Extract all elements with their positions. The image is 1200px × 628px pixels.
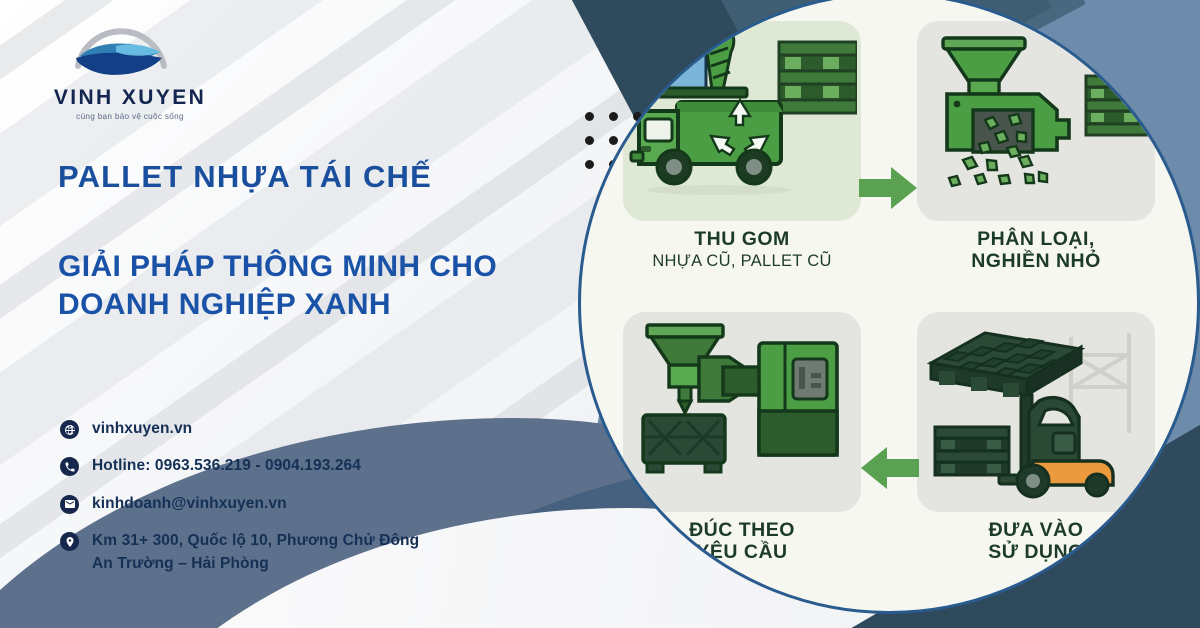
contact-address-text: Km 31+ 300, Quốc lộ 10, Phương Chử Đông …	[92, 530, 419, 575]
brand-tagline: cùng bạn bảo vệ cuộc sống	[52, 112, 208, 121]
process-step-3: ĐÚC THEO YÊU CẦU	[595, 312, 889, 603]
left-content-column: VINH XUYEN cùng bạn bảo vệ cuộc sống PAL…	[0, 0, 620, 628]
globe-icon	[60, 420, 79, 439]
brand-logo: VINH XUYEN cùng bạn bảo vệ cuộc sống	[48, 18, 208, 118]
grinder-machine-icon	[921, 24, 1151, 219]
page-subtitle-line1: GIẢI PHÁP THÔNG MINH CHO	[58, 250, 497, 283]
step-4-card	[917, 312, 1155, 512]
envelope-icon	[60, 495, 79, 514]
process-grid: THU GOM NHỰA CŨ, PALLET CŨ	[581, 0, 1197, 611]
step-3-label-line1: ĐÚC THEO	[689, 519, 795, 541]
contact-hotline-text: Hotline: 0963.536.219 - 0904.193.264	[92, 455, 361, 477]
brand-name: VINH XUYEN	[52, 86, 208, 110]
step-4-label: ĐƯA VÀO SỬ DỤNG	[988, 520, 1084, 564]
process-step-2: PHÂN LOẠI, NGHIỀN NHỎ	[889, 21, 1183, 312]
step-3-label-line2: YÊU CẦU	[696, 541, 787, 563]
contact-item-hotline[interactable]: Hotline: 0963.536.219 - 0904.193.264	[60, 455, 419, 477]
banner-root: VINH XUYEN cùng bạn bảo vệ cuộc sống PAL…	[0, 0, 1200, 628]
forklift-pallet-icon	[921, 315, 1151, 510]
location-pin-icon	[60, 532, 79, 551]
phone-icon	[60, 457, 79, 476]
contact-list: vinhxuyen.vn Hotline: 0963.536.219 - 090…	[60, 418, 419, 590]
step-1-card	[623, 21, 861, 221]
step-2-label-line1: PHÂN LOẠI,	[977, 228, 1095, 250]
process-step-4: ĐƯA VÀO SỬ DỤNG	[889, 312, 1183, 603]
step-3-card	[623, 312, 861, 512]
process-step-1: THU GOM NHỰA CŨ, PALLET CŨ	[595, 21, 889, 312]
contact-item-address[interactable]: Km 31+ 300, Quốc lộ 10, Phương Chử Đông …	[60, 530, 419, 575]
recycling-truck-icon	[627, 24, 857, 219]
page-title: PALLET NHỰA TÁI CHẾ	[58, 160, 432, 194]
contact-item-email[interactable]: kinhdoanh@vinhxuyen.vn	[60, 493, 419, 515]
contact-address-line1: Km 31+ 300, Quốc lộ 10, Phương Chử Đông	[92, 532, 419, 549]
injection-molding-icon	[627, 315, 857, 510]
contact-website-text: vinhxuyen.vn	[92, 418, 192, 440]
process-circle: THU GOM NHỰA CŨ, PALLET CŨ	[578, 0, 1200, 614]
contact-address-line2: An Trường – Hải Phòng	[92, 553, 419, 575]
arrow-left-icon	[859, 445, 919, 491]
page-subtitle-line2: DOANH NGHIỆP XANH	[58, 288, 391, 321]
arrow-right-icon	[859, 165, 919, 211]
step-1-label: THU GOM	[694, 229, 790, 251]
contact-email-text: kinhdoanh@vinhxuyen.vn	[92, 493, 287, 515]
contact-item-website[interactable]: vinhxuyen.vn	[60, 418, 419, 440]
step-2-card	[917, 21, 1155, 221]
step-4-label-line2: SỬ DỤNG	[988, 541, 1084, 563]
step-4-label-line1: ĐƯA VÀO	[989, 519, 1084, 541]
page-subtitle: GIẢI PHÁP THÔNG MINH CHO DOANH NGHIỆP XA…	[58, 248, 618, 325]
step-1-sublabel: NHỰA CŨ, PALLET CŨ	[652, 252, 831, 271]
wave-leaf-logo-icon	[56, 18, 186, 84]
step-2-label-line2: NGHIỀN NHỎ	[971, 250, 1101, 272]
step-2-label: PHÂN LOẠI, NGHIỀN NHỎ	[971, 229, 1101, 273]
step-3-label: ĐÚC THEO YÊU CẦU	[689, 520, 795, 564]
